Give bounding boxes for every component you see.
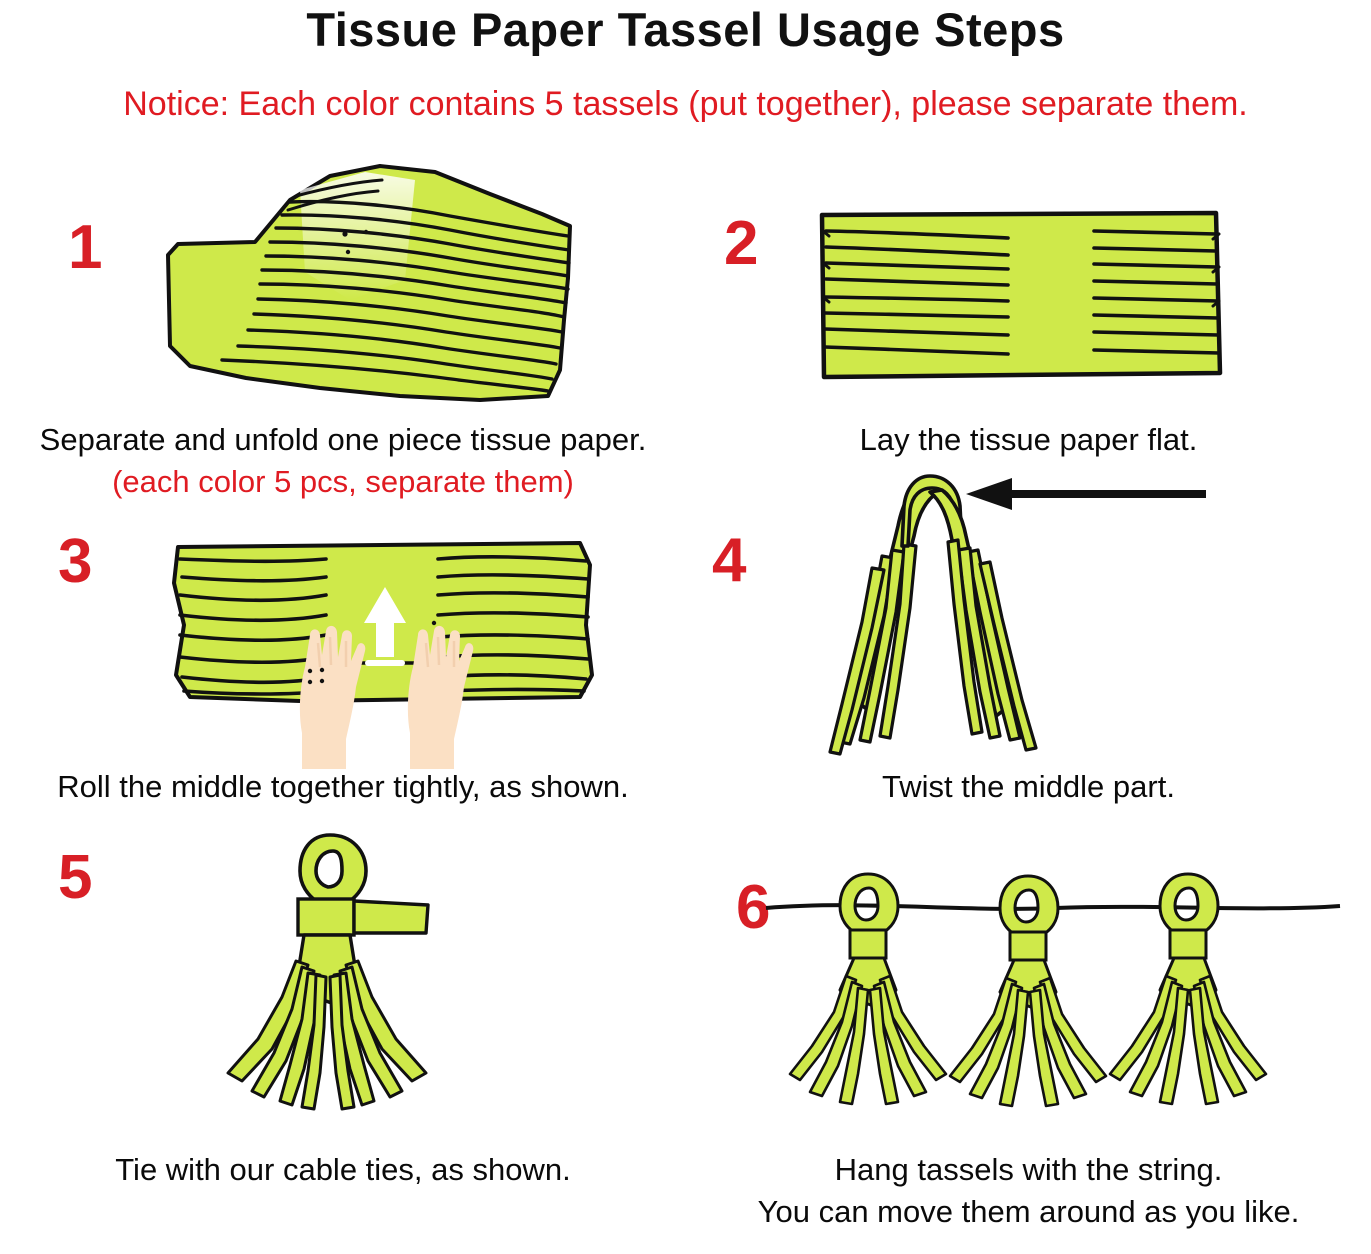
step-1-subcaption: (each color 5 pcs, separate them) — [0, 463, 686, 500]
step-4: 4 — [686, 460, 1371, 825]
left-arrow-glyph — [966, 478, 1206, 510]
page-title: Tissue Paper Tassel Usage Steps — [0, 2, 1371, 58]
step-4-caption: Twist the middle part. — [686, 768, 1371, 805]
cable-tie — [298, 899, 428, 935]
step-1-caption: Separate and unfold one piece tissue pap… — [0, 421, 686, 458]
step-1-illustration — [150, 160, 580, 420]
step-number-1: 1 — [68, 217, 102, 279]
step-3-caption: Roll the middle together tightly, as sho… — [0, 768, 686, 805]
step-2-caption: Lay the tissue paper flat. — [686, 421, 1371, 458]
step-5: 5 — [0, 825, 686, 1205]
step-number-2: 2 — [724, 213, 758, 275]
step-number-4: 4 — [712, 530, 746, 592]
step-5-illustration — [200, 825, 600, 1125]
step-6-illustration — [756, 870, 1346, 1130]
instruction-poster: Tissue Paper Tassel Usage Steps Notice: … — [0, 0, 1371, 1254]
notice-text: Notice: Each color contains 5 tassels (p… — [0, 84, 1371, 124]
step-5-caption: Tie with our cable ties, as shown. — [0, 1151, 686, 1188]
step-3: 3 — [0, 525, 686, 825]
step-number-3: 3 — [58, 531, 92, 593]
step-2-illustration — [816, 205, 1226, 385]
step-number-5: 5 — [58, 847, 92, 909]
step-3-illustration — [150, 525, 620, 770]
step-6-subcaption: You can move them around as you like. — [686, 1193, 1371, 1230]
step-1: 1 — [0, 195, 686, 525]
step-4-illustration — [806, 466, 1246, 766]
step-6: 6 — [686, 825, 1371, 1205]
step-6-caption: Hang tassels with the string. — [686, 1151, 1371, 1188]
